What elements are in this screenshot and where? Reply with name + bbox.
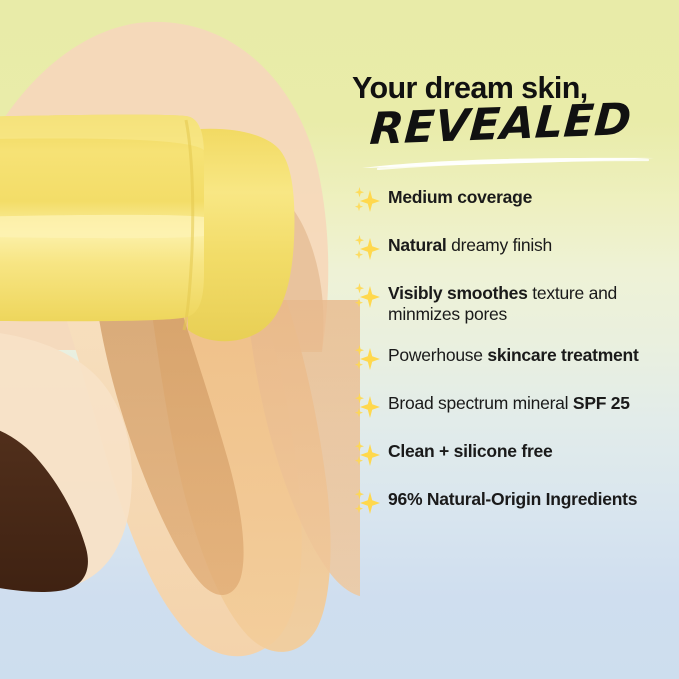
list-item-text: Broad spectrum mineral SPF 25 bbox=[388, 390, 630, 414]
list-item: Broad spectrum mineral SPF 25 bbox=[352, 390, 672, 421]
headline-line-2: REVEALED bbox=[368, 94, 633, 155]
list-item-part: 96% Natural-Origin Ingredients bbox=[388, 489, 637, 509]
sparkle-icon bbox=[352, 185, 382, 215]
tube-highlight bbox=[0, 215, 204, 238]
list-item-part: Natural bbox=[388, 235, 451, 255]
list-item-text: Visibly smoothes texture and minmizes po… bbox=[388, 280, 672, 324]
list-item: Natural dreamy finish bbox=[352, 232, 672, 263]
sparkle-icon bbox=[352, 281, 382, 311]
copy-column: Your dream skin, REVEALED Medium coverag… bbox=[352, 72, 672, 534]
list-item-text: 96% Natural-Origin Ingredients bbox=[388, 486, 637, 510]
list-item-part: Clean + silicone free bbox=[388, 441, 552, 461]
sparkle-icon bbox=[352, 439, 382, 469]
list-item-part: Broad spectrum mineral bbox=[388, 393, 573, 413]
brush-underline-icon bbox=[358, 156, 658, 170]
list-item: 96% Natural-Origin Ingredients bbox=[352, 486, 672, 517]
sparkle-icon bbox=[352, 343, 382, 373]
list-item: Powerhouse skincare treatment bbox=[352, 342, 672, 373]
list-item-part: dreamy finish bbox=[451, 235, 552, 255]
list-item-part: Medium coverage bbox=[388, 187, 532, 207]
list-item: Medium coverage bbox=[352, 184, 672, 215]
list-item-text: Clean + silicone free bbox=[388, 438, 552, 462]
list-item-part: Powerhouse bbox=[388, 345, 487, 365]
product-artwork bbox=[0, 0, 360, 679]
sparkle-icon bbox=[352, 391, 382, 421]
feature-bullet-list: Medium coverage Natural dreamy finish Vi… bbox=[352, 184, 672, 516]
list-item: Clean + silicone free bbox=[352, 438, 672, 469]
list-item-part: skincare treatment bbox=[487, 345, 638, 365]
list-item: Visibly smoothes texture and minmizes po… bbox=[352, 280, 672, 324]
list-item-text: Natural dreamy finish bbox=[388, 232, 552, 256]
list-item-part: SPF 25 bbox=[573, 393, 630, 413]
product-feature-ad: Your dream skin, REVEALED Medium coverag… bbox=[0, 0, 679, 679]
sparkle-icon bbox=[352, 233, 382, 263]
list-item-text: Powerhouse skincare treatment bbox=[388, 342, 639, 366]
headline-line-2-wrap: REVEALED bbox=[352, 106, 672, 168]
list-item-part: Visibly smoothes bbox=[388, 283, 532, 303]
list-item-text: Medium coverage bbox=[388, 184, 532, 208]
sparkle-icon bbox=[352, 487, 382, 517]
